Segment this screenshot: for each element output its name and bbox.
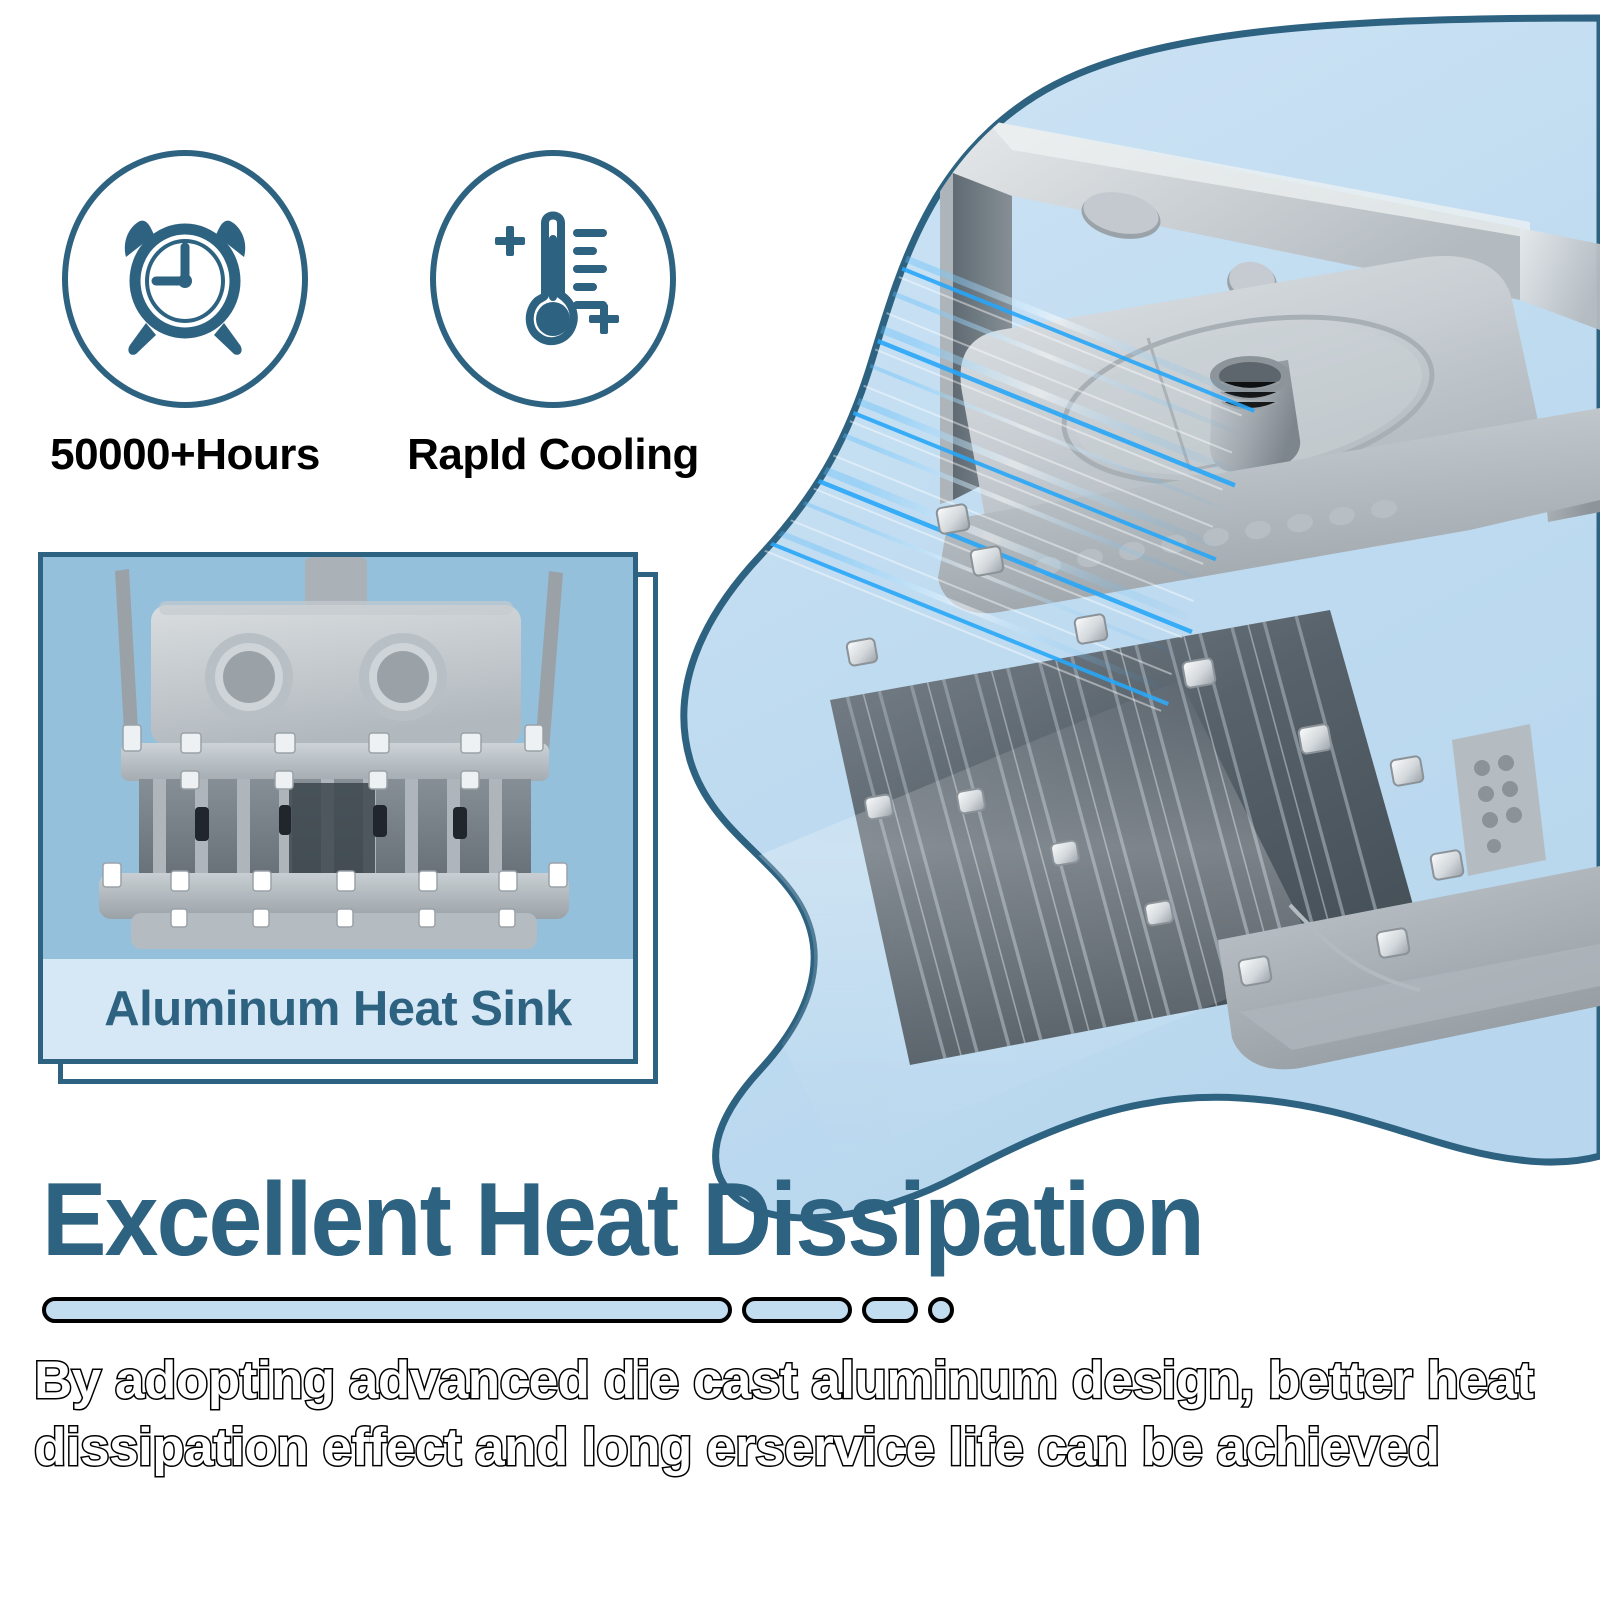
inset-card: Aluminum Heat Sink xyxy=(38,552,638,1064)
inset-product-photo xyxy=(43,557,633,969)
divider-pill xyxy=(862,1297,918,1323)
inset-caption-band: Aluminum Heat Sink xyxy=(43,959,633,1059)
badge-circle-lifetime xyxy=(62,150,308,408)
poster-canvas: 50000+Hours xyxy=(0,0,1600,1600)
divider-pill xyxy=(742,1297,852,1323)
heat-sink-inset: Aluminum Heat Sink xyxy=(38,552,638,1064)
side-vent-bracket xyxy=(1452,724,1546,876)
divider-pill xyxy=(42,1297,732,1323)
decorative-divider xyxy=(42,1297,954,1323)
inset-caption-text: Aluminum Heat Sink xyxy=(104,981,571,1037)
feature-cooling: RapId Cooling xyxy=(428,150,678,480)
feature-label-lifetime: 50000+Hours xyxy=(50,430,320,480)
body-paragraph: By adopting advanced die cast aluminum d… xyxy=(34,1348,1534,1482)
feature-lifetime: 50000+Hours xyxy=(60,150,310,480)
thermometer-icon xyxy=(473,199,633,359)
badge-circle-cooling xyxy=(430,150,676,408)
feature-label-cooling: RapId Cooling xyxy=(407,430,699,480)
divider-pill xyxy=(928,1297,954,1323)
alarm-clock-icon xyxy=(110,199,260,359)
page-title: Excellent Heat Dissipation xyxy=(42,1168,1344,1272)
feature-badge-row: 50000+Hours xyxy=(60,150,678,480)
conduit-port xyxy=(1210,356,1300,472)
